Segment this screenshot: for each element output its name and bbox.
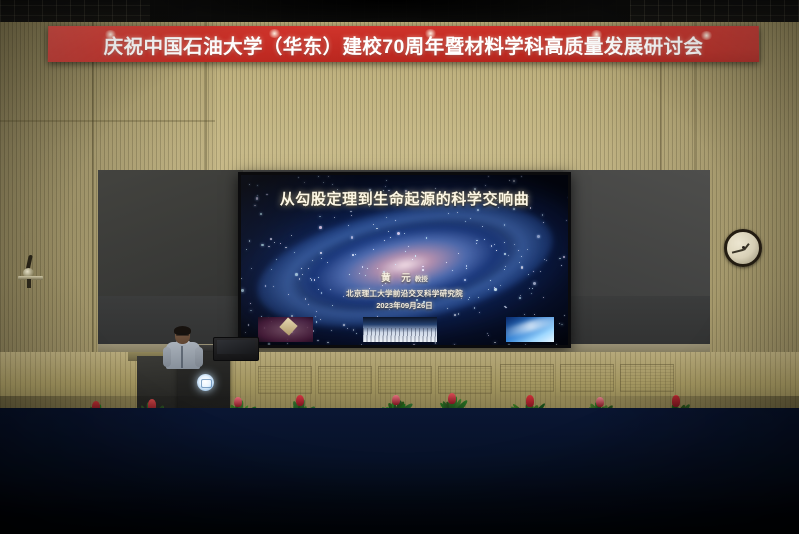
wall-acoustic-panel: [318, 366, 372, 394]
university-emblem-icon: [197, 374, 214, 391]
wall-seam: [0, 120, 215, 122]
plant-bloom: [296, 395, 304, 406]
plant-bloom: [448, 393, 456, 404]
screen-glare: [241, 175, 568, 345]
presenter: [163, 327, 203, 367]
plant-bloom: [526, 395, 534, 407]
wall-sconce-icon: [18, 255, 42, 285]
plant-bloom: [392, 395, 399, 405]
wall-acoustic-panel: [560, 364, 614, 392]
banner-glare: [700, 31, 713, 40]
projection-screen: 从勾股定理到生命起源的科学交响曲 黄 元教授 北京理工大学前沿交叉科学研究院 2…: [238, 172, 571, 348]
slide-surface: 从勾股定理到生命起源的科学交响曲 黄 元教授 北京理工大学前沿交叉科学研究院 2…: [241, 175, 568, 345]
event-banner: 庆祝中国石油大学（华东）建校70周年暨材料学科高质量发展研讨会: [48, 26, 759, 62]
wall-acoustic-panel: [258, 366, 312, 394]
wall-acoustic-panel: [500, 364, 554, 392]
wall-clock-icon: [724, 229, 762, 267]
banner-glare: [104, 30, 117, 39]
banner-glare: [590, 30, 603, 39]
banner-glare: [268, 29, 281, 38]
audience-seating: [0, 408, 799, 534]
plant-bloom: [234, 397, 242, 407]
wall-acoustic-panel: [378, 366, 432, 394]
plant-bloom: [672, 395, 681, 407]
confidence-monitor: [213, 337, 259, 361]
banner-text: 庆祝中国石油大学（华东）建校70周年暨材料学科高质量发展研讨会: [48, 26, 759, 62]
banner-glare: [424, 29, 437, 38]
wall-acoustic-panel: [620, 364, 674, 392]
plant-bloom: [596, 397, 604, 407]
auditorium-photo: 庆祝中国石油大学（华东）建校70周年暨材料学科高质量发展研讨会 从勾股定理到生命…: [0, 0, 799, 534]
